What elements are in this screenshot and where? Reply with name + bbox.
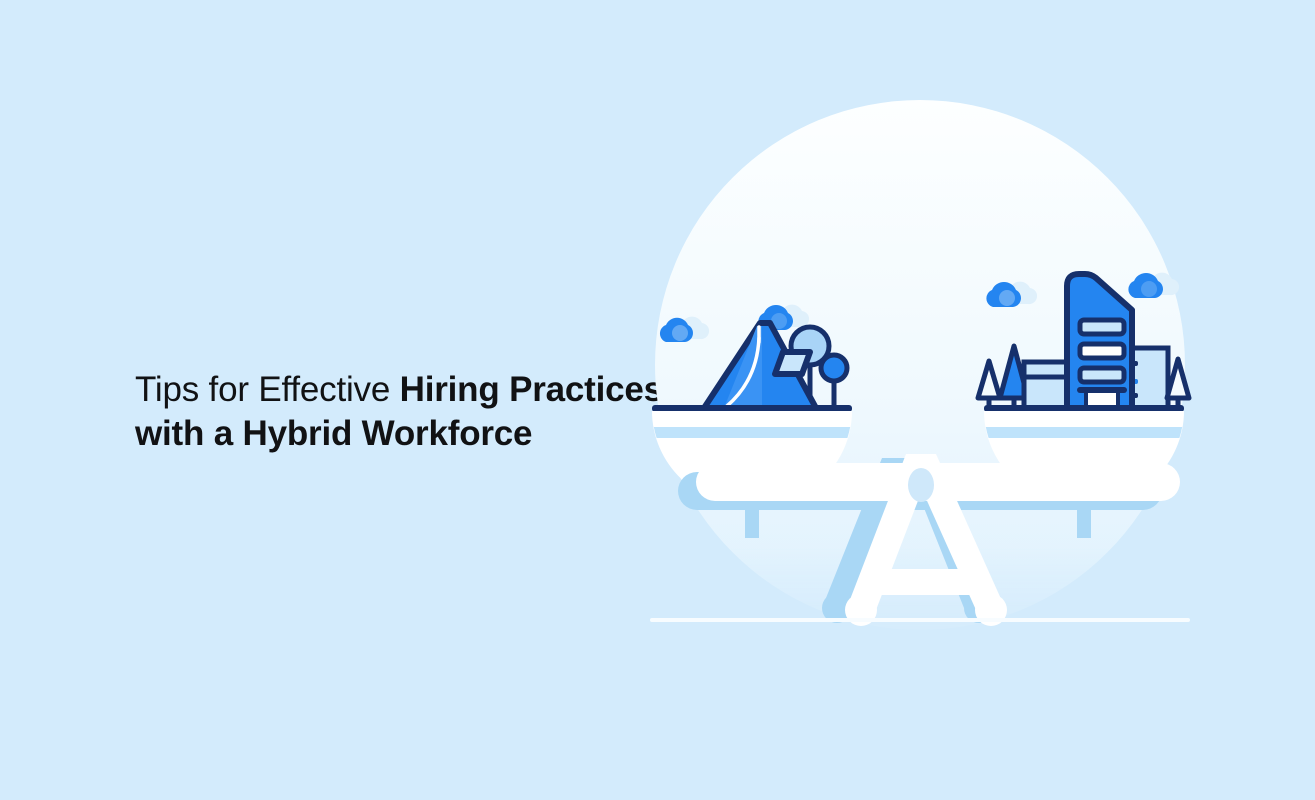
banner-root: Tips for Effective Hiring Practices with… [0,0,1315,800]
annex-building-icon [1024,362,1070,408]
stand-pivot-hole [908,468,934,502]
page-title: Tips for Effective Hiring Practices with… [135,368,665,456]
ground-line [650,618,1190,622]
left-ground-bar [652,405,852,412]
page-title-light-part: Tips for Effective [135,370,400,409]
right-ground-bar [984,405,1184,412]
hero-illustration [620,80,1220,660]
page-title-bold-part-2: with a Hybrid Workforce [135,414,532,453]
